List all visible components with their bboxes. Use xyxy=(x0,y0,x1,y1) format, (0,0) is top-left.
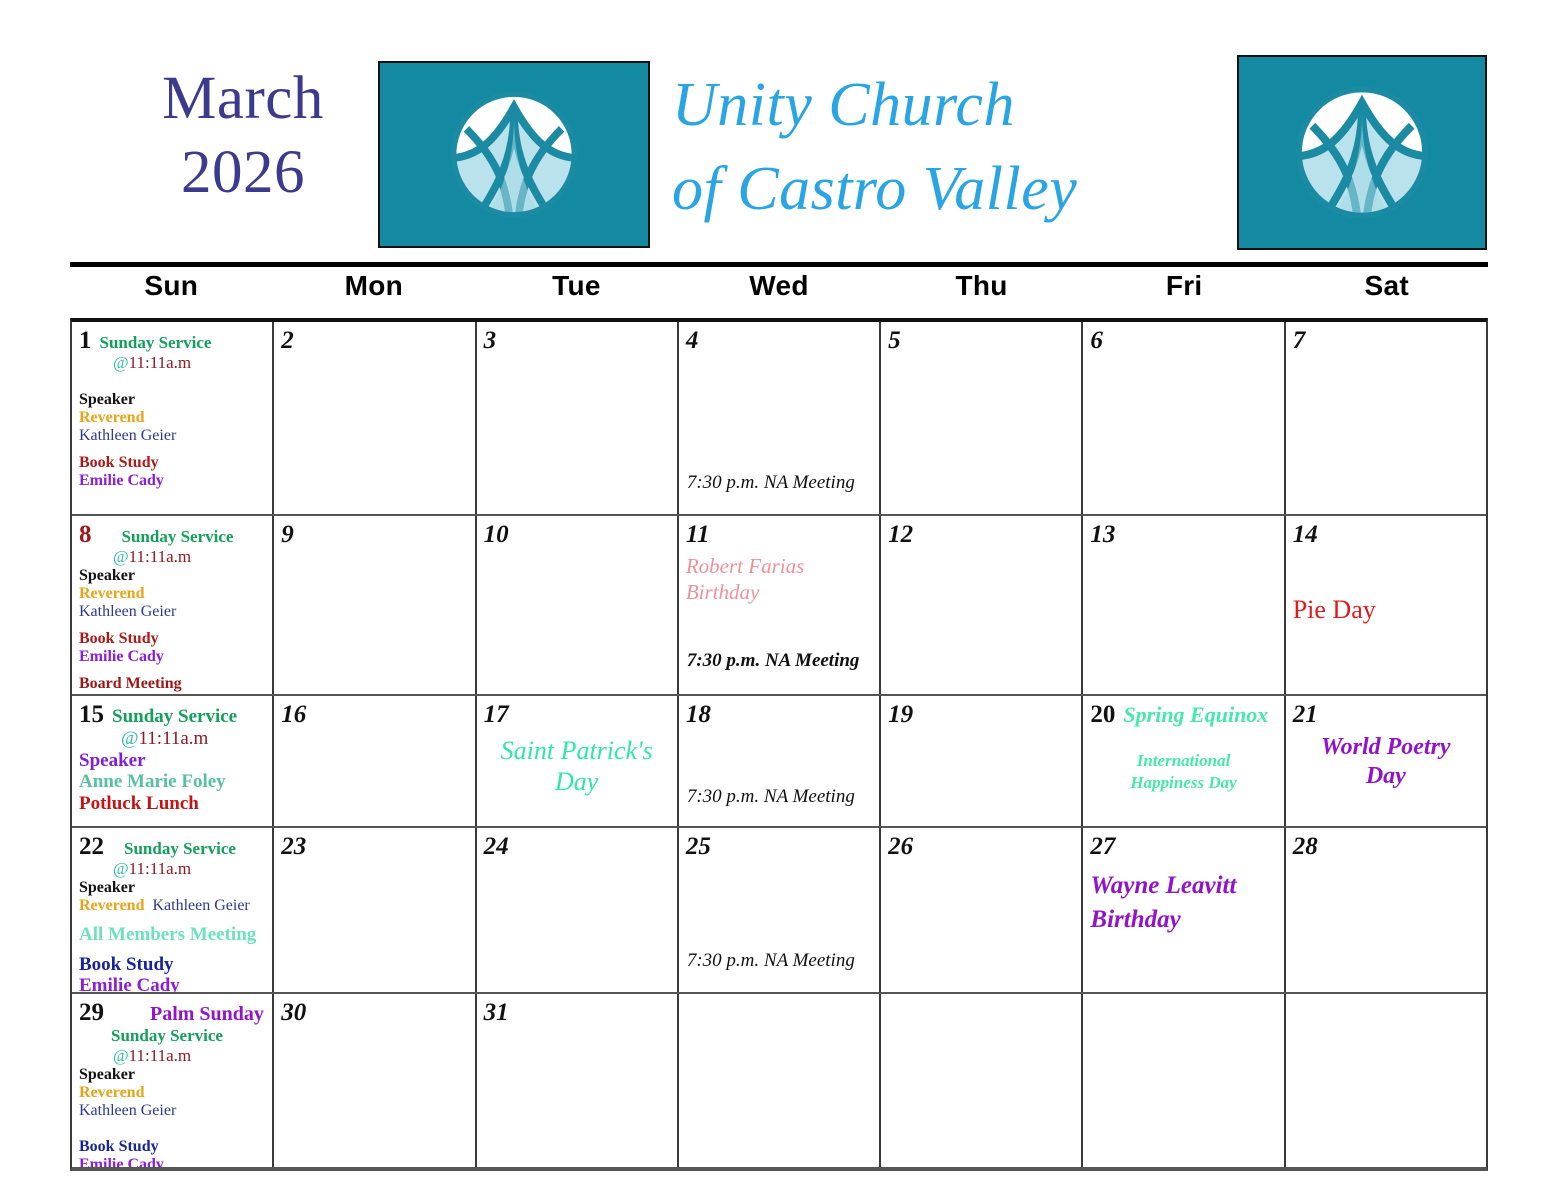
day-number: 25 xyxy=(686,834,711,859)
day-number: 12 xyxy=(888,522,913,547)
book-study-label: Book Study xyxy=(79,454,265,472)
day-header-rule xyxy=(70,262,1488,267)
reverend-label: Reverend xyxy=(79,585,265,603)
calendar-week-row: 8 Sunday Service @11:11a.m Speaker Rever… xyxy=(72,516,1486,696)
na-meeting-event: 7:30 p.m. NA Meeting xyxy=(687,950,855,972)
day-number: 26 xyxy=(888,834,913,859)
service-time-value: 11:11a.m xyxy=(139,728,209,749)
day-cell-18[interactable]: 18 7:30 p.m. NA Meeting xyxy=(679,696,881,826)
day-number: 22 xyxy=(79,834,104,859)
sunday-service-label: Sunday Service xyxy=(100,333,212,353)
spring-equinox-event: Spring Equinox xyxy=(1123,702,1268,728)
speaker-name: Kathleen Geier xyxy=(79,603,265,621)
month-year-title: March 2026 xyxy=(118,62,368,211)
day-number: 19 xyxy=(888,702,913,727)
day-cell-21[interactable]: 21 World Poetry Day xyxy=(1286,696,1486,826)
year-label: 2026 xyxy=(118,136,368,210)
day-cell-13[interactable]: 13 xyxy=(1083,516,1285,694)
birthday-line1: Robert Farias xyxy=(686,553,872,579)
dayname-mon: Mon xyxy=(273,270,476,314)
na-meeting-event: 7:30 p.m. NA Meeting xyxy=(687,650,860,672)
day-number: 17 xyxy=(484,702,509,727)
month-label: March xyxy=(118,62,368,136)
poetry-line1: World Poetry xyxy=(1293,733,1479,762)
day-number: 20 xyxy=(1090,702,1115,727)
church-name-line1: Unity Church xyxy=(672,64,1232,148)
wayne-line1: Wayne Leavitt xyxy=(1090,869,1276,903)
world-poetry-day-event: World Poetry Day xyxy=(1293,733,1479,791)
dayname-wed: Wed xyxy=(678,270,881,314)
reverend-label: Reverend xyxy=(79,409,265,427)
service-time: @11:11a.m xyxy=(113,859,265,879)
dayname-thu: Thu xyxy=(880,270,1083,314)
service-time-value: 11:11a.m xyxy=(129,1046,191,1065)
at-symbol: @ xyxy=(113,353,129,372)
day-header-row: Sun Mon Tue Wed Thu Fri Sat xyxy=(70,270,1488,314)
unity-church-logo-left xyxy=(378,61,650,248)
day-number: 3 xyxy=(484,328,497,353)
day-number: 4 xyxy=(686,328,699,353)
poetry-line2: Day xyxy=(1293,762,1479,791)
day-number: 28 xyxy=(1293,834,1318,859)
book-study-author: Emilie Cady xyxy=(79,648,265,666)
day-number: 5 xyxy=(888,328,901,353)
book-study-author: Emilie Cady xyxy=(79,472,265,490)
saint-patricks-day-event: Saint Patrick's Day xyxy=(484,735,670,797)
at-symbol: @ xyxy=(121,728,139,749)
day-cell-25[interactable]: 25 7:30 p.m. NA Meeting xyxy=(679,828,881,992)
speaker-name: Kathleen Geier xyxy=(152,897,249,915)
calendar-header: March 2026 xyxy=(0,0,1550,252)
book-study-label: Book Study xyxy=(79,1138,265,1156)
service-time: @11:11a.m xyxy=(113,547,265,567)
calendar-week-row: 1 Sunday Service @11:11a.m Speaker Rever… xyxy=(72,322,1486,516)
day-cell-19[interactable]: 19 xyxy=(881,696,1083,826)
day-cell-8[interactable]: 8 Sunday Service @11:11a.m Speaker Rever… xyxy=(72,516,274,694)
unity-church-logo-right xyxy=(1237,55,1487,250)
service-time-value: 11:11a.m xyxy=(129,547,191,566)
book-study-label: Book Study xyxy=(79,954,265,975)
wayne-line2: Birthday xyxy=(1090,903,1276,937)
day-number: 31 xyxy=(484,1000,509,1025)
day-cell-9[interactable]: 9 xyxy=(274,516,476,694)
day-cell-5[interactable]: 5 xyxy=(881,322,1083,514)
calendar-week-row: 29 Palm Sunday Sunday Service @11:11a.m … xyxy=(72,994,1486,1167)
dayname-fri: Fri xyxy=(1083,270,1286,314)
speaker-label: Speaker xyxy=(79,879,265,897)
day-cell-3[interactable]: 3 xyxy=(477,322,679,514)
calendar-grid: 1 Sunday Service @11:11a.m Speaker Rever… xyxy=(70,318,1488,1171)
at-symbol: @ xyxy=(113,1046,129,1065)
day-cell-1[interactable]: 1 Sunday Service @11:11a.m Speaker Rever… xyxy=(72,322,274,514)
service-time: @11:11a.m xyxy=(113,353,265,373)
day-number: 30 xyxy=(281,1000,306,1025)
service-time: @11:11a.m xyxy=(113,1046,265,1066)
speaker-label: Speaker xyxy=(79,567,265,585)
na-meeting-event: 7:30 p.m. NA Meeting xyxy=(687,786,855,808)
day-number: 18 xyxy=(686,702,711,727)
book-study-label: Book Study xyxy=(79,630,265,648)
day-cell-29[interactable]: 29 Palm Sunday Sunday Service @11:11a.m … xyxy=(72,994,274,1167)
speaker-label: Speaker xyxy=(79,750,265,771)
church-name-title: Unity Church of Castro Valley xyxy=(672,64,1232,231)
day-number: 7 xyxy=(1293,328,1306,353)
dayname-sat: Sat xyxy=(1285,270,1488,314)
robert-farias-birthday-event: Robert Farias Birthday xyxy=(686,553,872,606)
day-cell-14[interactable]: 14 Pie Day xyxy=(1286,516,1486,694)
day-number: 13 xyxy=(1090,522,1115,547)
day-cell-26[interactable]: 26 xyxy=(881,828,1083,992)
unity-logo-icon xyxy=(380,63,648,246)
sunday-service-label: Sunday Service xyxy=(122,527,234,547)
speaker-name: Kathleen Geier xyxy=(79,427,265,445)
service-time-value: 11:11a.m xyxy=(129,859,191,878)
stpat-line1: Saint Patrick's xyxy=(484,735,670,766)
speaker-name: Anne Marie Foley xyxy=(79,771,265,792)
day-cell-15[interactable]: 15 Sunday Service @11:11a.m Speaker Anne… xyxy=(72,696,274,826)
board-meeting-event: Board Meeting xyxy=(79,675,265,693)
day-cell-30[interactable]: 30 xyxy=(274,994,476,1167)
day-number: 29 xyxy=(79,1000,104,1025)
reverend-label: Reverend xyxy=(79,1084,265,1102)
speaker-label: Speaker xyxy=(79,1066,265,1084)
day-cell-20[interactable]: 20 Spring Equinox International Happines… xyxy=(1083,696,1285,826)
day-cell-4[interactable]: 4 7:30 p.m. NA Meeting xyxy=(679,322,881,514)
sunday-service-label: Sunday Service xyxy=(124,839,236,859)
day-cell-24[interactable]: 24 xyxy=(477,828,679,992)
pie-day-event: Pie Day xyxy=(1293,595,1479,625)
day-cell-31[interactable]: 31 xyxy=(477,994,679,1167)
reverend-label: Reverend xyxy=(79,897,144,915)
service-time-value: 11:11a.m xyxy=(129,353,191,372)
day-cell-empty xyxy=(881,994,1083,1167)
day-cell-11[interactable]: 11 Robert Farias Birthday 7:30 p.m. NA M… xyxy=(679,516,881,694)
happiness-line1: International xyxy=(1090,750,1276,772)
happiness-line2: Happiness Day xyxy=(1090,772,1276,794)
day-number: 2 xyxy=(281,328,294,353)
dayname-tue: Tue xyxy=(475,270,678,314)
palm-sunday-label: Palm Sunday xyxy=(150,1003,264,1026)
international-happiness-day-event: International Happiness Day xyxy=(1090,750,1276,794)
day-cell-17[interactable]: 17 Saint Patrick's Day xyxy=(477,696,679,826)
birthday-line2: Birthday xyxy=(686,579,872,605)
day-cell-10[interactable]: 10 xyxy=(477,516,679,694)
at-symbol: @ xyxy=(113,859,129,878)
speaker-name: Kathleen Geier xyxy=(79,1102,265,1120)
speaker-label: Speaker xyxy=(79,391,265,409)
day-cell-23[interactable]: 23 xyxy=(274,828,476,992)
day-cell-16[interactable]: 16 xyxy=(274,696,476,826)
book-study-author: Emilie Cady xyxy=(79,975,265,992)
day-cell-22[interactable]: 22 Sunday Service @11:11a.m Speaker Reve… xyxy=(72,828,274,992)
day-number: 14 xyxy=(1293,522,1318,547)
day-cell-7[interactable]: 7 xyxy=(1286,322,1486,514)
wayne-leavitt-birthday-event: Wayne Leavitt Birthday xyxy=(1090,869,1276,937)
day-number: 6 xyxy=(1090,328,1103,353)
sunday-service-label: Sunday Service xyxy=(112,706,237,728)
day-number: 21 xyxy=(1293,702,1318,727)
book-study-author: Emilie Cady xyxy=(79,1156,265,1167)
day-number: 1 xyxy=(79,328,92,353)
calendar-week-row: 22 Sunday Service @11:11a.m Speaker Reve… xyxy=(72,828,1486,994)
day-number: 9 xyxy=(281,522,294,547)
day-cell-2[interactable]: 2 xyxy=(274,322,476,514)
day-number: 11 xyxy=(686,522,710,547)
service-time: @11:11a.m xyxy=(121,728,265,750)
day-cell-empty xyxy=(1286,994,1486,1167)
day-cell-28[interactable]: 28 xyxy=(1286,828,1486,992)
stpat-line2: Day xyxy=(484,766,670,797)
day-cell-6[interactable]: 6 xyxy=(1083,322,1285,514)
day-number: 27 xyxy=(1090,834,1115,859)
church-name-line2: of Castro Valley xyxy=(672,148,1232,232)
day-cell-27[interactable]: 27 Wayne Leavitt Birthday xyxy=(1083,828,1285,992)
day-number: 15 xyxy=(79,702,104,727)
day-number: 10 xyxy=(484,522,509,547)
day-cell-empty xyxy=(679,994,881,1167)
dayname-sun: Sun xyxy=(70,270,273,314)
na-meeting-event: 7:30 p.m. NA Meeting xyxy=(687,472,855,494)
day-number: 24 xyxy=(484,834,509,859)
potluck-lunch-event: Potluck Lunch xyxy=(79,793,265,814)
day-cell-12[interactable]: 12 xyxy=(881,516,1083,694)
day-cell-empty xyxy=(1083,994,1285,1167)
all-members-meeting-event: All Members Meeting xyxy=(79,924,265,945)
sunday-service-label: Sunday Service xyxy=(111,1026,265,1046)
day-number: 8 xyxy=(79,522,92,547)
day-number: 16 xyxy=(281,702,306,727)
at-symbol: @ xyxy=(113,547,129,566)
day-number: 23 xyxy=(281,834,306,859)
calendar-week-row: 15 Sunday Service @11:11a.m Speaker Anne… xyxy=(72,696,1486,828)
unity-logo-icon xyxy=(1239,57,1485,248)
